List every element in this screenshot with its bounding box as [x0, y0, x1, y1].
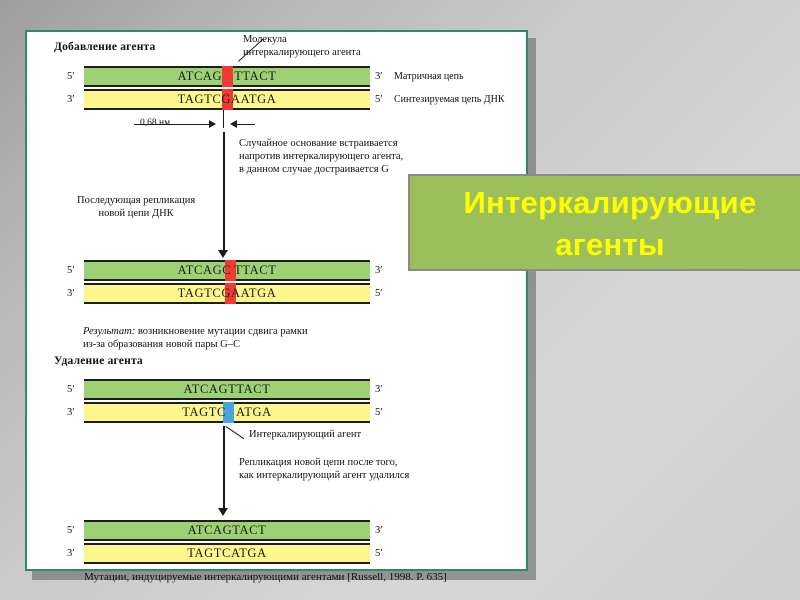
dimension-label: 0,68 нм	[140, 118, 170, 128]
callout-intercalating-agent: Интеркалирующий агент	[249, 428, 361, 441]
callout-agent-molecule: Молекула интеркалирующего агента	[243, 33, 361, 59]
duplex-2-right-5-prime: 5′	[375, 288, 383, 299]
duplex-2-template-strand: ATCAGC TTACT	[84, 260, 370, 281]
duplex-3-left-5-prime: 5′	[67, 384, 75, 395]
slide-title-line1: Интеркалирующие	[463, 185, 756, 220]
duplex-4-bottom-seq: TAGTCATGA	[187, 546, 266, 561]
duplex-1-synth-strand: TAGTCG AATGA	[84, 89, 370, 110]
result-label: Результат:	[83, 326, 135, 337]
callout-replication-after-removal: Репликация новой цепи после того, как ин…	[239, 456, 409, 482]
duplex-4-left-5-prime: 5′	[67, 525, 75, 536]
duplex-3-bottom-seq-right: ATGA	[236, 405, 272, 420]
flow-line-2	[223, 210, 225, 252]
duplex-2-synth-strand: TAGTCG AATGA	[84, 283, 370, 304]
duplex-3: ATCAGTTACT TAGTC ATGA	[84, 379, 370, 423]
dimension-line-right	[237, 124, 255, 125]
duplex-2-top-seq-left: ATCAGC	[178, 263, 232, 278]
duplex-2-bottom-seq-right: AATGA	[231, 286, 276, 301]
callout-subsequent-replication: Последующая репликация новой цепи ДНК	[77, 194, 195, 220]
duplex-1-right-5-prime: 5′	[375, 94, 383, 105]
duplex-4-template-strand: ATCAGTACT	[84, 520, 370, 541]
duplex-4-synth-strand: TAGTCATGA	[84, 543, 370, 564]
duplex-1-right-3-prime: 3′	[375, 71, 383, 82]
duplex-4-left-3-prime: 3′	[67, 548, 75, 559]
duplex-1-top-seq-left: ATCAG	[178, 69, 223, 84]
flow-arrow-1	[218, 250, 228, 258]
figure-panel: Добавление агента Молекула интеркалирующ…	[25, 30, 528, 571]
section-heading-remove-agent: Удаление агента	[54, 355, 143, 367]
duplex-3-right-5-prime: 5′	[375, 407, 383, 418]
duplex-1-left-5-prime: 5′	[67, 71, 75, 82]
duplex-3-bottom-seq-left: TAGTC	[182, 405, 226, 420]
dimension-arrow-right	[209, 120, 216, 128]
duplex-1-bottom-seq-right: AATGA	[231, 92, 276, 107]
duplex-2-left-3-prime: 3′	[67, 288, 75, 299]
callout-random-base: Случайное основание встраивается напроти…	[239, 137, 403, 176]
duplex-1: ATCAG TTACT TAGTCG AATGA	[84, 66, 370, 110]
duplex-2-top-seq-right: TTACT	[234, 263, 276, 278]
duplex-4-right-3-prime: 3′	[375, 525, 383, 536]
duplex-2-bottom-seq-left: TAGTCG	[178, 286, 231, 301]
duplex-2-right-3-prime: 3′	[375, 265, 383, 276]
duplex-4-right-5-prime: 5′	[375, 548, 383, 559]
strand-label-synthesized: Синтезируемая цепь ДНК	[394, 94, 505, 105]
duplex-3-template-strand: ATCAGTTACT	[84, 379, 370, 400]
flow-line-1	[223, 132, 225, 210]
duplex-1-bottom-seq-left: TAGTCG	[178, 92, 231, 107]
flow-line-3	[223, 426, 225, 510]
dimension-tick	[223, 110, 224, 128]
slide-title-line2: агенты	[555, 227, 665, 262]
duplex-4: ATCAGTACT TAGTCATGA	[84, 520, 370, 564]
duplex-1-top-seq-right: TTACT	[234, 69, 276, 84]
duplex-4-top-seq: ATCAGTACT	[188, 523, 267, 538]
flow-arrow-2	[218, 508, 228, 516]
duplex-3-right-3-prime: 3′	[375, 384, 383, 395]
duplex-3-synth-strand: TAGTC ATGA	[84, 402, 370, 423]
duplex-2: ATCAGC TTACT TAGTCG AATGA	[84, 260, 370, 304]
strand-label-template: Матричная цепь	[394, 71, 464, 82]
duplex-2-left-5-prime: 5′	[67, 265, 75, 276]
dimension-arrow-left	[230, 120, 237, 128]
leader-line-intercalating-agent	[225, 426, 244, 439]
duplex-1-template-strand: ATCAG TTACT	[84, 66, 370, 87]
duplex-1-left-3-prime: 3′	[67, 94, 75, 105]
duplex-3-top-seq: ATCAGTTACT	[184, 382, 271, 397]
agent-marker-red	[222, 66, 233, 87]
duplex-3-left-3-prime: 3′	[67, 407, 75, 418]
slide-title: Интеркалирующие агенты	[410, 182, 800, 266]
section-heading-add-agent: Добавление агента	[54, 41, 156, 53]
slide-title-box: Интеркалирующие агенты	[408, 174, 800, 271]
figure-caption: Мутации, индуцируемые интеркалирующими а…	[84, 571, 447, 583]
